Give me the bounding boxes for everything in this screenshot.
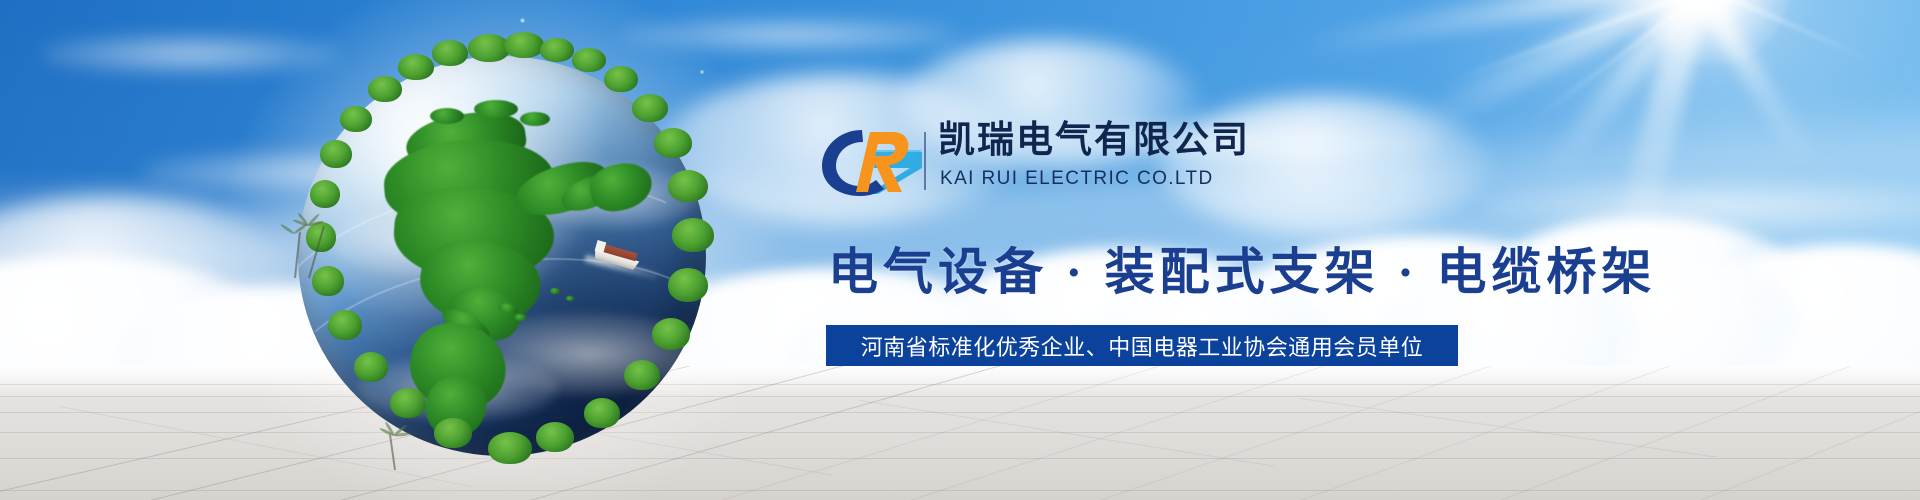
banner-tagline: 电气设备 · 装配式支架 · 电缆桥架 bbox=[828, 232, 1656, 304]
globe-landmass bbox=[474, 100, 518, 118]
tree-icon bbox=[572, 48, 606, 72]
tree-icon bbox=[390, 388, 426, 418]
plaza-seam bbox=[860, 400, 1275, 467]
tree-icon bbox=[398, 54, 434, 80]
green-eco-globe-icon bbox=[272, 22, 732, 482]
globe-landmass bbox=[520, 112, 550, 126]
tree-icon bbox=[312, 266, 344, 296]
tree-icon bbox=[654, 128, 692, 158]
tree-icon bbox=[504, 32, 544, 58]
tree-icon bbox=[310, 180, 340, 208]
tree-icon bbox=[652, 318, 690, 350]
tree-icon bbox=[488, 432, 532, 464]
tree-icon bbox=[604, 66, 638, 92]
plaza-seam bbox=[0, 490, 1920, 491]
cr-monogram-logo-icon bbox=[818, 122, 926, 198]
tree-icon bbox=[354, 352, 388, 382]
tree-icon bbox=[536, 422, 574, 452]
tree-icon bbox=[672, 218, 714, 252]
tree-icon bbox=[540, 38, 574, 62]
tree-icon bbox=[434, 418, 472, 448]
globe-landmass bbox=[550, 288, 560, 294]
company-logo-block: 凯瑞电气有限公司 KAI RUI ELECTRIC CO.LTD bbox=[818, 118, 1518, 208]
tree-icon bbox=[320, 140, 352, 168]
logo-divider bbox=[924, 132, 926, 190]
tree-icon bbox=[584, 398, 620, 428]
tree-icon bbox=[340, 106, 372, 132]
tree-icon bbox=[668, 268, 708, 302]
certification-badge-bar: 河南省标准化优秀企业、中国电器工业协会通用会员单位 bbox=[826, 325, 1458, 366]
certification-badge-text: 河南省标准化优秀企业、中国电器工业协会通用会员单位 bbox=[861, 330, 1424, 362]
company-name-cn: 凯瑞电气有限公司 bbox=[938, 118, 1250, 162]
globe-landmass bbox=[566, 296, 574, 301]
globe-landmass bbox=[430, 108, 464, 124]
tree-icon bbox=[368, 76, 402, 102]
plaza-seam bbox=[1300, 398, 1716, 457]
globe-landmass bbox=[514, 314, 527, 321]
tree-icon bbox=[632, 94, 668, 122]
company-name-en: KAI RUI ELECTRIC CO.LTD bbox=[940, 167, 1214, 191]
tree-icon bbox=[432, 40, 468, 66]
tree-icon bbox=[328, 310, 362, 340]
hero-banner: 凯瑞电气有限公司 KAI RUI ELECTRIC CO.LTD 电气设备 · … bbox=[0, 0, 1920, 500]
tree-icon bbox=[668, 170, 708, 202]
tree-icon bbox=[624, 360, 660, 390]
